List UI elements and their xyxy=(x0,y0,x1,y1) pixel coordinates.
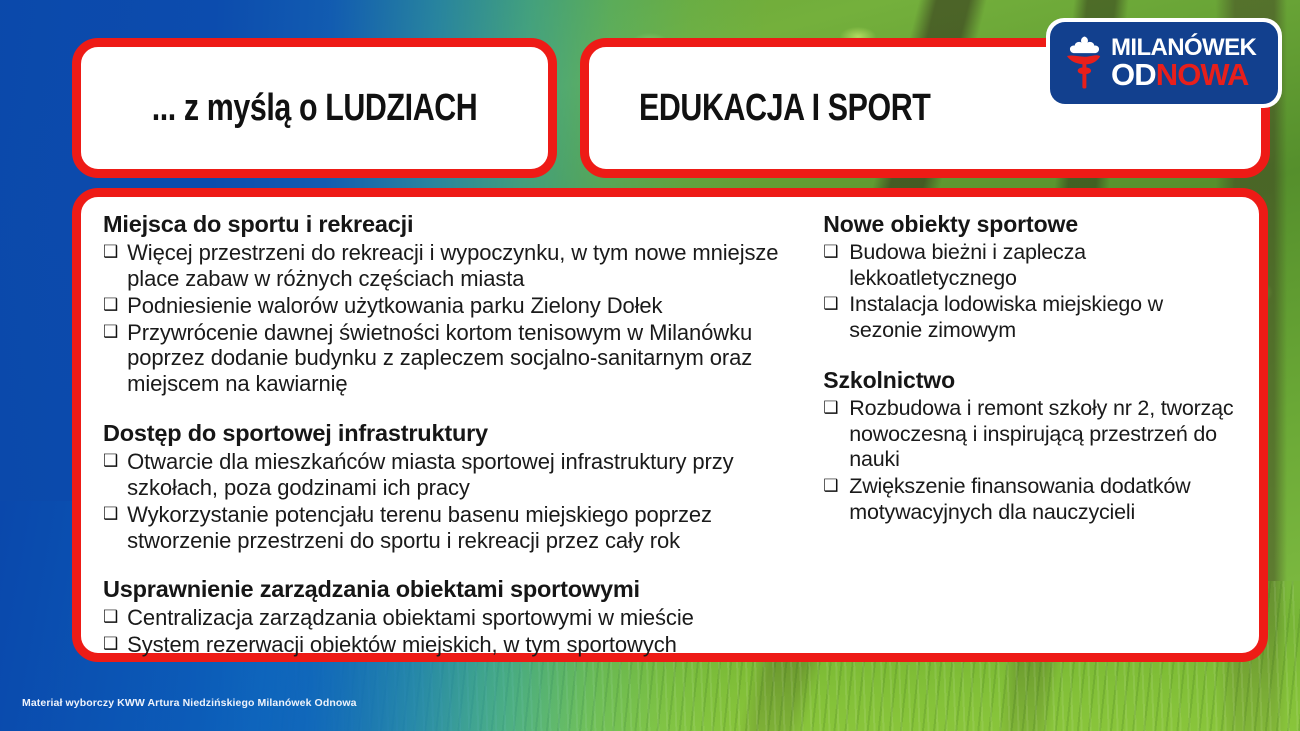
checkbox-bullet-icon: ❑ xyxy=(103,605,118,629)
list-item: ❑ Przywrócenie dawnej świetności kortom … xyxy=(103,320,805,398)
logo-line-odnowa: ODNOWA xyxy=(1111,60,1256,89)
section-bullet-list: ❑ Więcej przestrzeni do rekreacji i wypo… xyxy=(103,240,805,397)
list-item: ❑ System rezerwacji obiektów miejskich, … xyxy=(103,632,805,658)
section-bullet-list: ❑ Otwarcie dla mieszkańców miasta sporto… xyxy=(103,449,805,553)
checkbox-bullet-icon: ❑ xyxy=(103,502,118,526)
checkbox-bullet-icon: ❑ xyxy=(103,449,118,473)
section-heading: Usprawnienie zarządzania obiektami sport… xyxy=(103,576,805,603)
list-item: ❑ Podniesienie walorów użytkowania parku… xyxy=(103,293,805,319)
list-item: ❑ Budowa bieżni i zaplecza lekkoatletycz… xyxy=(823,240,1241,291)
section-heading: Dostęp do sportowej infrastruktury xyxy=(103,420,805,447)
checkbox-bullet-icon: ❑ xyxy=(103,240,118,264)
section-dostep-do-sportowej-infrastruktury: Dostęp do sportowej infrastruktury ❑ Otw… xyxy=(103,420,805,553)
checkbox-bullet-icon: ❑ xyxy=(823,292,838,316)
section-bullet-list: ❑ Budowa bieżni i zaplecza lekkoatletycz… xyxy=(823,240,1241,343)
section-bullet-list: ❑ Centralizacja zarządzania obiektami sp… xyxy=(103,605,805,658)
election-disclaimer: Materiał wyborczy KWW Artura Niedzińskie… xyxy=(22,697,357,709)
checkbox-bullet-icon: ❑ xyxy=(823,474,838,498)
list-item-text: Podniesienie walorów użytkowania parku Z… xyxy=(127,293,662,319)
list-item: ❑ Zwiększenie finansowania dodatków moty… xyxy=(823,474,1241,525)
tree-leaf-icon xyxy=(1064,34,1104,92)
list-item: ❑ Więcej przestrzeni do rekreacji i wypo… xyxy=(103,240,805,292)
content-panel: Miejsca do sportu i rekreacji ❑ Więcej p… xyxy=(72,188,1268,662)
content-column-left: Miejsca do sportu i rekreacji ❑ Więcej p… xyxy=(103,211,813,643)
list-item: ❑ Rozbudowa i remont szkoły nr 2, tworzą… xyxy=(823,396,1241,473)
section-usprawnienie-zarzadzania-obiektami-sportowymi: Usprawnienie zarządzania obiektami sport… xyxy=(103,576,805,658)
list-item-text: System rezerwacji obiektów miejskich, w … xyxy=(127,632,677,658)
list-item-text: Budowa bieżni i zaplecza lekkoatletyczne… xyxy=(849,240,1241,291)
header-box-tagline: ... z myślą o LUDZIACH xyxy=(72,38,557,178)
section-szkolnictwo: Szkolnictwo ❑ Rozbudowa i remont szkoły … xyxy=(823,367,1241,525)
milanowek-odnowa-logo[interactable]: MILANÓWEK ODNOWA xyxy=(1046,18,1282,108)
list-item-text: Wykorzystanie potencjału terenu basenu m… xyxy=(127,502,805,554)
checkbox-bullet-icon: ❑ xyxy=(103,632,118,656)
content-column-right: Nowe obiekty sportowe ❑ Budowa bieżni i … xyxy=(813,211,1241,643)
list-item-text: Rozbudowa i remont szkoły nr 2, tworząc … xyxy=(849,396,1241,473)
list-item: ❑ Wykorzystanie potencjału terenu basenu… xyxy=(103,502,805,554)
list-item-text: Więcej przestrzeni do rekreacji i wypocz… xyxy=(127,240,805,292)
list-item: ❑ Instalacja lodowiska miejskiego w sezo… xyxy=(823,292,1241,343)
list-item-text: Zwiększenie finansowania dodatków motywa… xyxy=(849,474,1241,525)
logo-word-nowa: NOWA xyxy=(1156,57,1249,92)
list-item-text: Otwarcie dla mieszkańców miasta sportowe… xyxy=(127,449,805,501)
list-item-text: Centralizacja zarządzania obiektami spor… xyxy=(127,605,694,631)
list-item: ❑ Otwarcie dla mieszkańców miasta sporto… xyxy=(103,449,805,501)
checkbox-bullet-icon: ❑ xyxy=(103,320,118,344)
checkbox-bullet-icon: ❑ xyxy=(103,293,118,317)
header-topic-text: EDUKACJA I SPORT xyxy=(639,87,930,130)
checkbox-bullet-icon: ❑ xyxy=(823,396,838,420)
checkbox-bullet-icon: ❑ xyxy=(823,240,838,264)
section-heading: Miejsca do sportu i rekreacji xyxy=(103,211,805,238)
list-item: ❑ Centralizacja zarządzania obiektami sp… xyxy=(103,605,805,631)
header-tagline-text: ... z myślą o LUDZIACH xyxy=(152,87,478,130)
logo-panel: MILANÓWEK ODNOWA xyxy=(1050,22,1278,104)
list-item-text: Instalacja lodowiska miejskiego w sezoni… xyxy=(849,292,1241,343)
logo-word-od: OD xyxy=(1111,57,1156,92)
section-heading: Nowe obiekty sportowe xyxy=(823,211,1241,238)
section-nowe-obiekty-sportowe: Nowe obiekty sportowe ❑ Budowa bieżni i … xyxy=(823,211,1241,343)
section-bullet-list: ❑ Rozbudowa i remont szkoły nr 2, tworzą… xyxy=(823,396,1241,525)
section-miejsca-do-sportu-i-rekreacji: Miejsca do sportu i rekreacji ❑ Więcej p… xyxy=(103,211,805,397)
logo-wordmark: MILANÓWEK ODNOWA xyxy=(1111,37,1256,89)
section-heading: Szkolnictwo xyxy=(823,367,1241,394)
list-item-text: Przywrócenie dawnej świetności kortom te… xyxy=(127,320,805,398)
